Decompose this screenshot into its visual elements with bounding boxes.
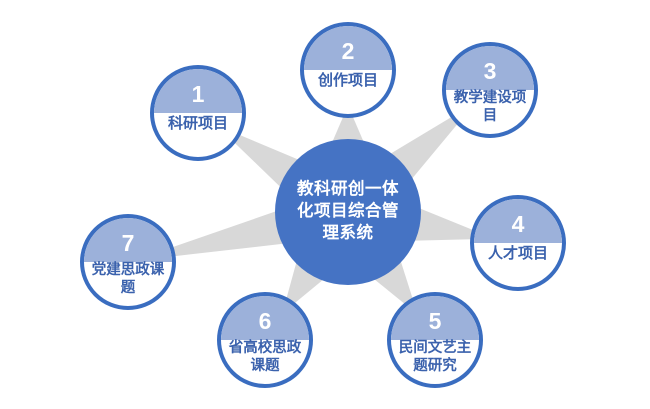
node-1-number: 1: [154, 69, 242, 113]
node-7-label: 党建思政课题: [70, 262, 186, 297]
node-3-number: 3: [446, 46, 534, 90]
node-2-label: 创作项目: [290, 70, 406, 90]
node-5-number: 5: [391, 296, 479, 340]
node-3-label: 教学建设项目: [432, 90, 548, 125]
node-6-number: 6: [221, 296, 309, 340]
node-7-number: 7: [84, 218, 172, 262]
node-5[interactable]: 5民间文艺主题研究: [387, 292, 483, 388]
node-6[interactable]: 6省高校思政课题: [217, 292, 313, 388]
node-6-label: 省高校思政课题: [207, 340, 323, 375]
connector-spoke-7: [172, 210, 287, 256]
hub-node[interactable]: 教科研创一体化项目综合管理系统: [275, 139, 421, 285]
node-1-label: 科研项目: [140, 113, 256, 133]
node-4[interactable]: 4人才项目: [470, 195, 566, 291]
node-4-label: 人才项目: [460, 243, 576, 263]
node-2-number: 2: [304, 26, 392, 70]
node-3[interactable]: 3教学建设项目: [442, 42, 538, 138]
diagram-canvas: 教科研创一体化项目综合管理系统 1科研项目2创作项目3教学建设项目4人才项目5民…: [0, 0, 650, 409]
node-7[interactable]: 7党建思政课题: [80, 214, 176, 310]
hub-label: 教科研创一体化项目综合管理系统: [296, 179, 400, 244]
node-1[interactable]: 1科研项目: [150, 65, 246, 161]
node-4-number: 4: [474, 199, 562, 243]
node-2[interactable]: 2创作项目: [300, 22, 396, 118]
node-5-label: 民间文艺主题研究: [377, 340, 493, 375]
